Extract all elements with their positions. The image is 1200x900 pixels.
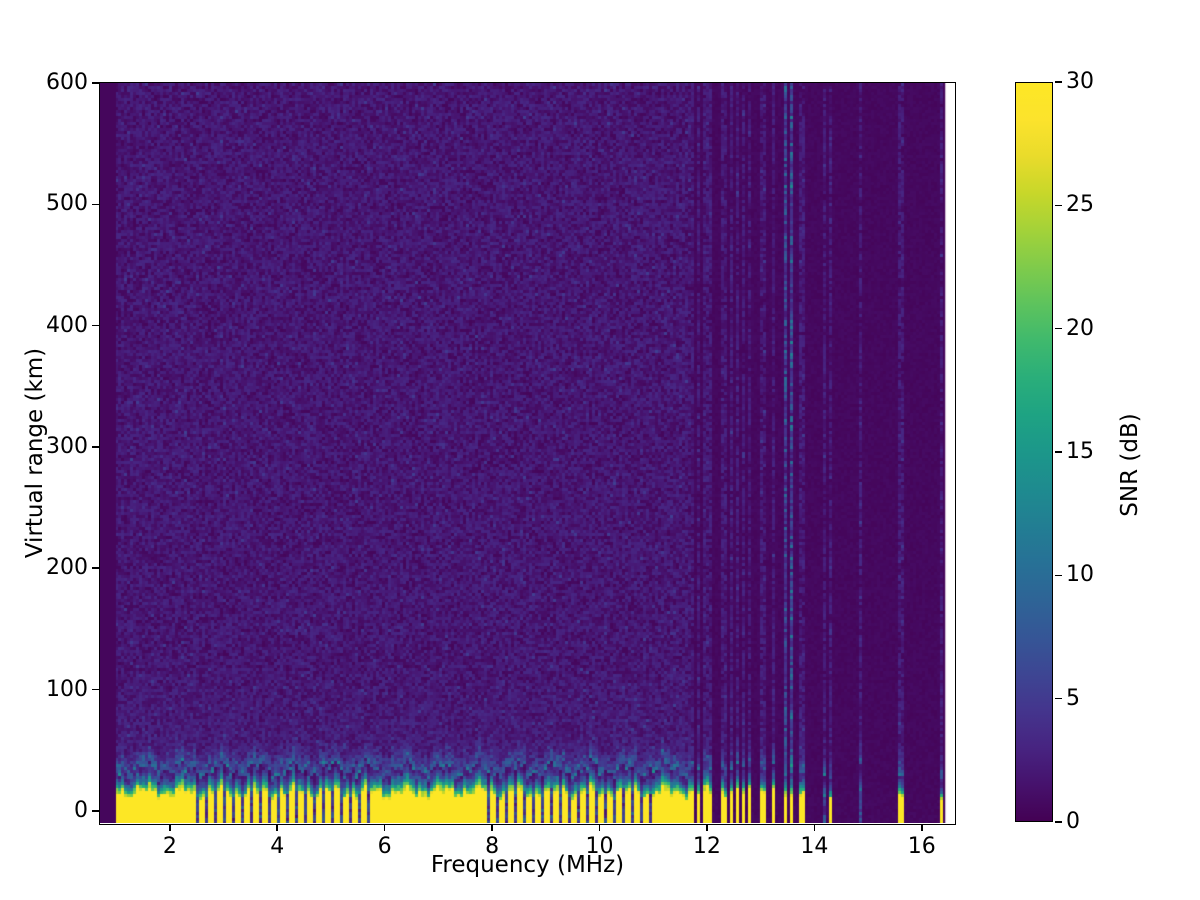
y-tick-label: 100 [46,679,88,701]
x-tick-mark [921,824,923,831]
colorbar-tick-mark [1055,328,1062,330]
y-tick-mark [92,810,99,812]
colorbar-tick-label: 30 [1066,71,1094,93]
x-tick-mark [276,824,278,831]
colorbar-tick-mark [1055,575,1062,577]
ionogram-heatmap [100,83,954,823]
ionogram-plot-area [99,82,956,825]
colorbar-label: SNR (dB) [1117,345,1143,585]
y-tick-mark [92,82,99,84]
colorbar-tick-mark [1055,451,1062,453]
y-tick-mark [92,325,99,327]
colorbar-tick-mark [1055,821,1062,823]
x-tick-mark [814,824,816,831]
y-tick-label: 200 [46,557,88,579]
y-tick-label: 400 [46,315,88,337]
x-tick-mark [384,824,386,831]
y-tick-mark [92,567,99,569]
colorbar-tick-label: 25 [1066,194,1094,216]
colorbar [1015,82,1053,822]
x-tick-mark [491,824,493,831]
colorbar-tick-mark [1055,698,1062,700]
colorbar-tick-mark [1055,81,1062,83]
y-tick-mark [92,446,99,448]
y-tick-mark [92,689,99,691]
x-tick-mark [706,824,708,831]
y-axis-label: Virtual range (km) [22,273,48,633]
colorbar-tick-label: 20 [1066,318,1094,340]
y-tick-label: 300 [46,436,88,458]
colorbar-tick-label: 5 [1066,688,1080,710]
y-tick-label: 600 [46,72,88,94]
y-tick-mark [92,204,99,206]
colorbar-tick-label: 15 [1066,441,1094,463]
y-tick-label: 500 [46,193,88,215]
x-tick-mark [169,824,171,831]
colorbar-gradient [1016,83,1052,821]
x-axis-label: Frequency (MHz) [99,852,956,878]
colorbar-tick-mark [1055,205,1062,207]
colorbar-tick-label: 10 [1066,564,1094,586]
ionogram-figure: IRF Kiruna Ionosonde KI167 2025-09-29 03… [0,0,1200,900]
colorbar-tick-label: 0 [1066,811,1080,833]
y-tick-label: 0 [74,800,88,822]
x-tick-mark [599,824,601,831]
